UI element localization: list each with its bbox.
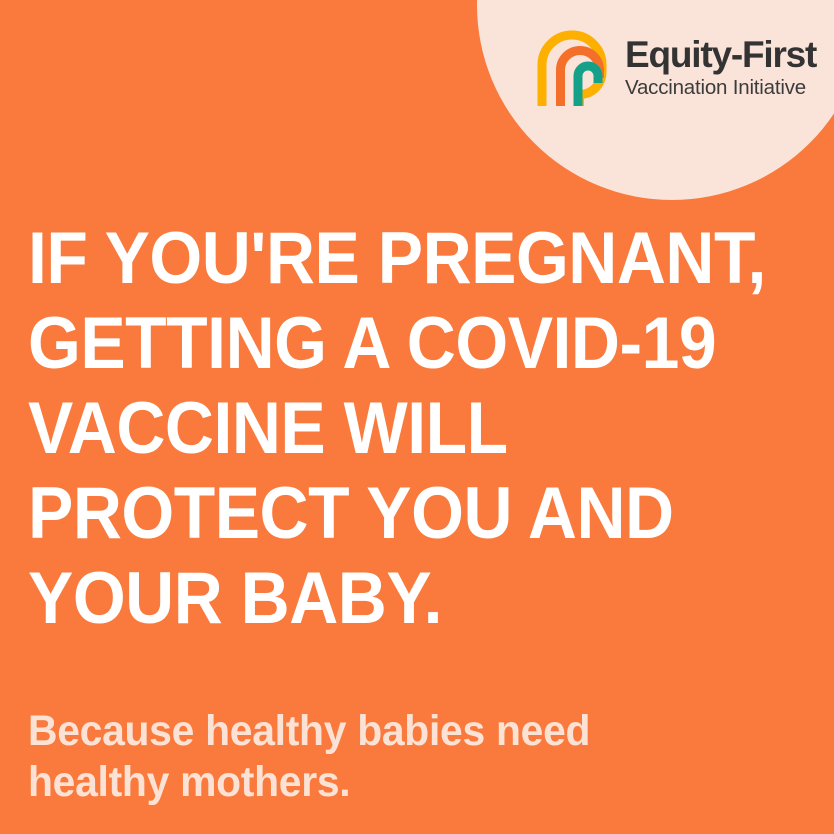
headline-line: VACCINE WILL [28,386,763,471]
subheadline-line: healthy mothers. [28,757,779,808]
subheadline-line: Because healthy babies need [28,706,779,757]
logo-subtitle: Vaccination Initiative [625,78,816,99]
headline-line: YOUR BABY. [28,556,763,641]
headline-line: PROTECT YOU AND [28,471,763,556]
logo-lockup: Equity-First Vaccination Initiative [533,26,816,108]
logo-wordmark: Equity-First Vaccination Initiative [625,36,816,99]
headline: IF YOU'RE PREGNANT, GETTING A COVID-19 V… [28,216,818,641]
logo-title: Equity-First [625,36,816,74]
nested-rainbow-arch-p-mark [533,26,611,108]
subheadline: Because healthy babies need healthy moth… [28,706,818,808]
headline-line: GETTING A COVID-19 [28,301,763,386]
poster-canvas: Equity-First Vaccination Initiative IF Y… [0,0,834,834]
headline-line: IF YOU'RE PREGNANT, [28,216,763,301]
